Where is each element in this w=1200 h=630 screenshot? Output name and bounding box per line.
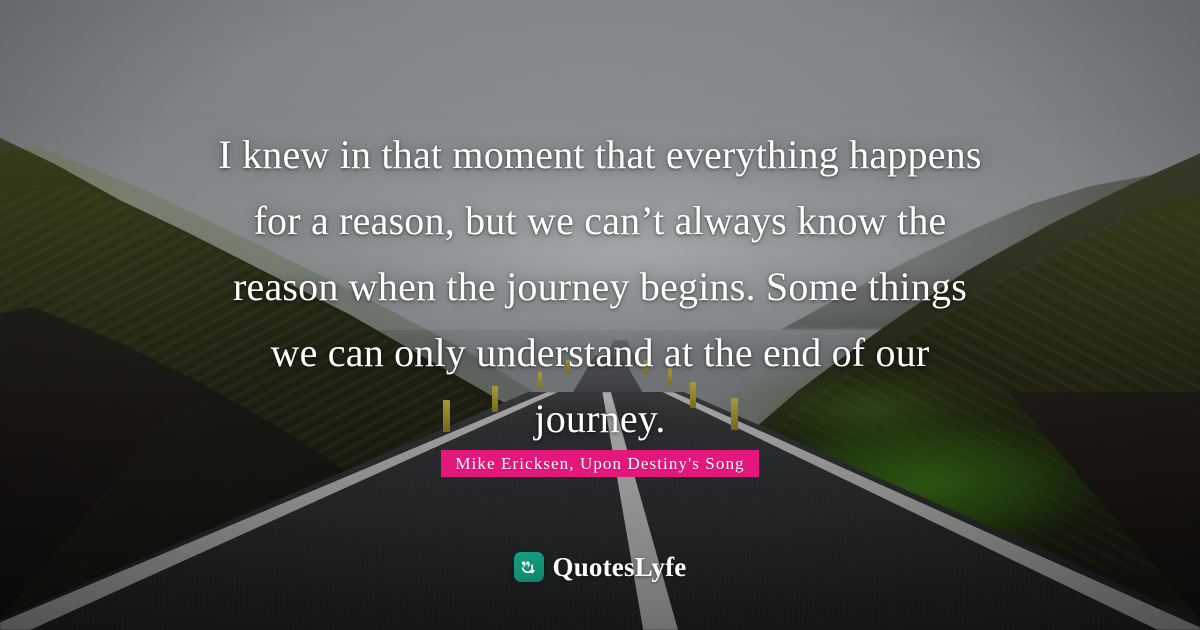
quote-line: for a reason, but we can’t always know t…: [130, 188, 1070, 254]
quote-line: reason when the journey begins. Some thi…: [130, 254, 1070, 320]
quote-line: we can only understand at the end of our: [130, 320, 1070, 386]
brand-name: QuotesLyfe: [553, 552, 687, 582]
text-overlay: I knew in that moment that everything ha…: [0, 0, 1200, 630]
quote-line: I knew in that moment that everything ha…: [130, 122, 1070, 188]
attribution-row: Mike Ericksen, Upon Destiny's Song: [0, 450, 1200, 477]
quote-text: I knew in that moment that everything ha…: [0, 122, 1200, 452]
quoteslyfe-logo[interactable]: QuotesLyfe: [0, 552, 1200, 582]
quote-smiley-icon: [514, 552, 544, 582]
attribution-badge: Mike Ericksen, Upon Destiny's Song: [441, 450, 758, 477]
quote-card: I knew in that moment that everything ha…: [0, 0, 1200, 630]
quote-line: journey.: [130, 386, 1070, 452]
